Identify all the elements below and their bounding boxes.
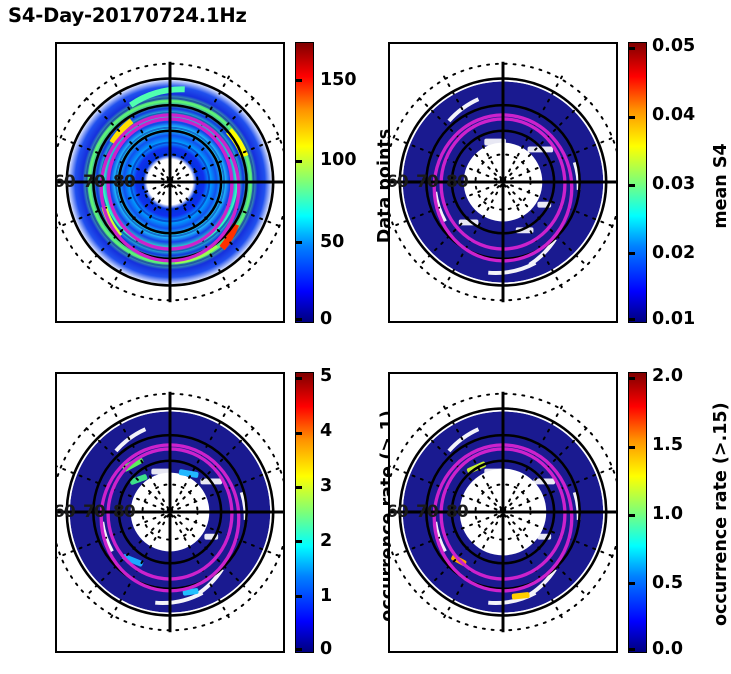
- colorbar-tick-4: [295, 432, 302, 435]
- page-title: S4-Day-20170724.1Hz: [8, 4, 247, 27]
- colorbar-occurrence-rate-gt-0p15[interactable]: [628, 372, 647, 653]
- colorbar-ticklabel-150: 150: [320, 70, 357, 90]
- colorbar-title-mean-s4: mean S4: [711, 106, 731, 266]
- colorbar-ticklabel-2.0: 2.0: [652, 366, 683, 386]
- colorbar-ticklabel-0.0: 0.0: [652, 639, 683, 659]
- colorbar-ticklabel-1.5: 1.5: [652, 435, 683, 455]
- colorbar-tick-0.01: [628, 318, 635, 321]
- figure-canvas: S4-Day-20170724.1Hz: [0, 0, 731, 674]
- colorbar-tick-5: [295, 377, 302, 380]
- colorbar-ticklabel-4: 4: [320, 421, 332, 441]
- colorbar-tick-0.02: [628, 252, 635, 255]
- colorbar-ticklabel-0: 0: [320, 309, 332, 329]
- colorbar-tick-0: [295, 318, 302, 321]
- polar-plot-mean-s4: [390, 44, 616, 321]
- colorbar-ticklabel-0.02: 0.02: [652, 243, 695, 263]
- colorbar-tick-0.04: [628, 116, 635, 119]
- colorbar-ticklabel-0.03: 0.03: [652, 174, 695, 194]
- colorbar-data-points[interactable]: [295, 42, 314, 323]
- polar-plot-occurrence-rate-gt-0p1: [57, 374, 283, 651]
- panel-occurrence-rate-gt-0p1: 60 70 80: [55, 372, 285, 653]
- colorbar-occurrence-rate-gt-0p1[interactable]: [295, 372, 314, 653]
- panel-occurrence-rate-gt-0p15: 60 70 80: [388, 372, 618, 653]
- colorbar-tick-0.5: [628, 582, 635, 585]
- polar-plot-data-points: [57, 44, 283, 321]
- colorbar-ticklabel-0.05: 0.05: [652, 36, 695, 56]
- colorbar-tick-0.03: [628, 184, 635, 187]
- colorbar-ticklabel-0.04: 0.04: [652, 105, 695, 125]
- colorbar-tick-0.05: [628, 47, 635, 50]
- colorbar-mean-s4[interactable]: [628, 42, 647, 323]
- polar-axis-cross: [57, 62, 283, 303]
- colorbar-ticklabel-5: 5: [320, 366, 332, 386]
- polar-plot-svg: [57, 44, 283, 321]
- polar-axis-cross: [57, 392, 283, 633]
- panel-mean-s4: 60 70 80: [388, 42, 618, 323]
- colorbar-tick-50: [295, 241, 302, 244]
- colorbar-tick-2: [295, 540, 302, 543]
- polar-plot-svg: [390, 44, 616, 321]
- colorbar-tick-1: [295, 595, 302, 598]
- colorbar-ticklabel-3: 3: [320, 476, 332, 496]
- polar-axis-cross: [390, 392, 616, 633]
- colorbar-ticklabel-1: 1: [320, 586, 332, 606]
- colorbar-tick-1.5: [628, 446, 635, 449]
- colorbar-ticklabel-0.5: 0.5: [652, 573, 683, 593]
- polar-plot-svg: [57, 374, 283, 651]
- colorbar-ticklabel-0: 0: [320, 639, 332, 659]
- colorbar-ticklabel-0.01: 0.01: [652, 309, 695, 329]
- colorbar-tick-3: [295, 486, 302, 489]
- colorbar-ticklabel-2: 2: [320, 531, 332, 551]
- polar-plot-svg: [390, 374, 616, 651]
- polar-plot-occurrence-rate-gt-0p15: [390, 374, 616, 651]
- colorbar-tick-2.0: [628, 377, 635, 380]
- colorbar-tick-0.0: [628, 648, 635, 651]
- colorbar-ticklabel-50: 50: [320, 232, 344, 252]
- colorbar-ticklabel-1.0: 1.0: [652, 504, 683, 524]
- colorbar-title-occurrence-rate-gt-0p15: occurrence rate (>.15): [711, 406, 731, 626]
- colorbar-ticklabel-100: 100: [320, 150, 357, 170]
- colorbar-tick-100: [295, 160, 302, 163]
- panel-data-points: 60 70 80: [55, 42, 285, 323]
- polar-axis-cross: [390, 62, 616, 303]
- colorbar-tick-150: [295, 79, 302, 82]
- colorbar-tick-0: [295, 648, 302, 651]
- colorbar-tick-1.0: [628, 514, 635, 517]
